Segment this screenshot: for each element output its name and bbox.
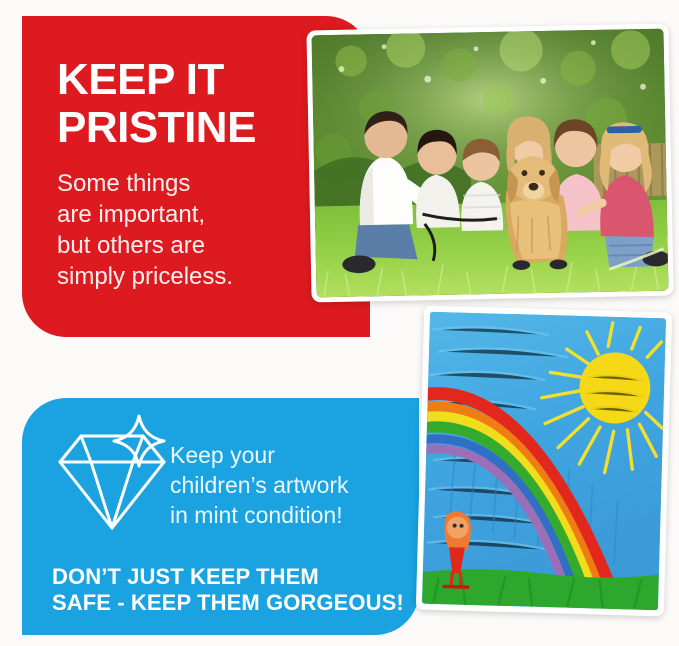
blue-panel-promise: Keep your children’s artwork in mint con… [170, 440, 349, 530]
child-artwork [422, 312, 666, 610]
child-artwork-card [416, 306, 672, 617]
family-photo [312, 29, 669, 298]
poster-canvas: KEEP IT PRISTINE Some things are importa… [0, 0, 679, 646]
red-panel-subtext: Some things are important, but others ar… [57, 168, 233, 292]
diamond-sparkle-icon [54, 414, 174, 536]
family-photo-card [306, 24, 673, 303]
blue-panel: Keep your children’s artwork in mint con… [22, 398, 419, 635]
blue-panel-cta: DON’T JUST KEEP THEM SAFE - KEEP THEM GO… [52, 564, 404, 616]
page-title: KEEP IT PRISTINE [57, 56, 256, 152]
